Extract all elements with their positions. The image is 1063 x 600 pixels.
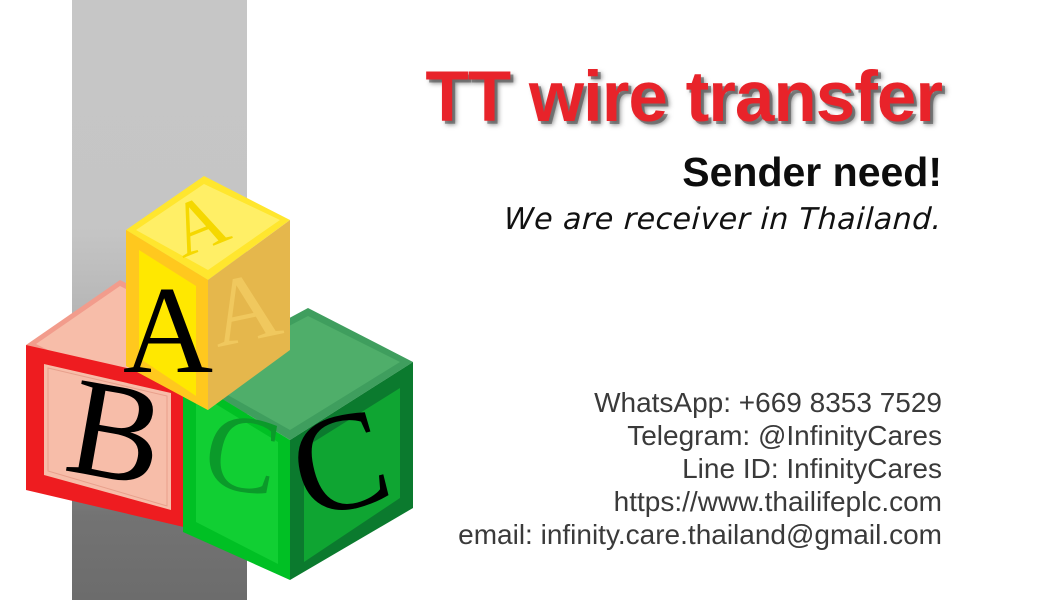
poster-canvas: B C C bbox=[0, 0, 1063, 600]
contact-list: WhatsApp: +669 8353 7529 Telegram: @Infi… bbox=[302, 386, 942, 551]
tagline: We are receiver in Thailand. bbox=[503, 205, 942, 235]
contact-website[interactable]: https://www.thailifeplc.com bbox=[302, 485, 942, 518]
page-title: TT wire transfer bbox=[425, 62, 942, 133]
subtitle: Sender need! bbox=[682, 152, 942, 193]
svg-text:A: A bbox=[123, 262, 213, 400]
contact-email[interactable]: email: infinity.care.thailand@gmail.com bbox=[302, 518, 942, 551]
contact-telegram[interactable]: Telegram: @InfinityCares bbox=[302, 419, 942, 452]
text-column: TT wire transfer Sender need! We are rec… bbox=[260, 0, 1053, 600]
contact-whatsapp[interactable]: WhatsApp: +669 8353 7529 bbox=[302, 386, 942, 419]
contact-line-id[interactable]: Line ID: InfinityCares bbox=[302, 452, 942, 485]
